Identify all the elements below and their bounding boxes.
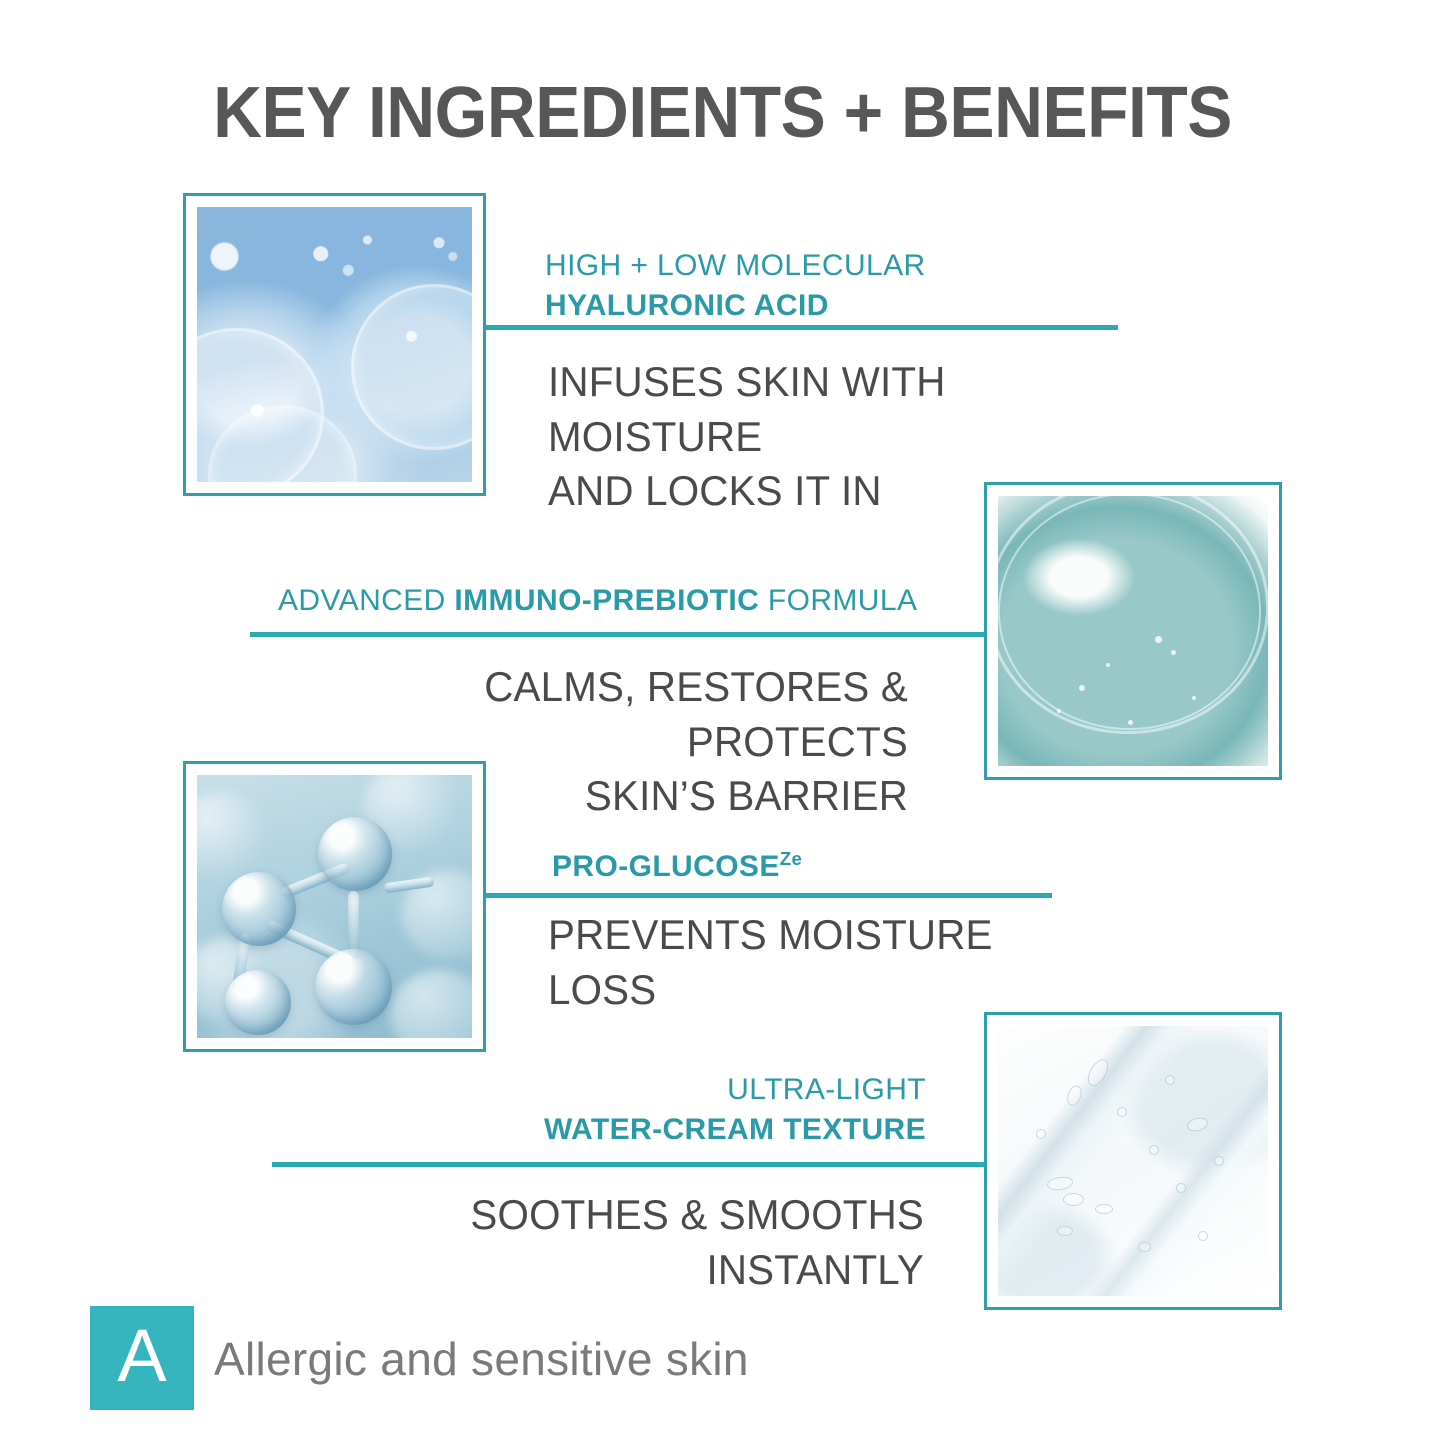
- water-bubbles-image: [197, 207, 472, 482]
- ingredient-label-1-line1: HIGH + LOW MOLECULAR: [545, 249, 926, 282]
- ingredient-label-2-post: FORMULA: [759, 584, 917, 617]
- allergy-badge-letter: A: [117, 1319, 166, 1393]
- ingredient-label-2-pre: ADVANCED: [278, 584, 454, 617]
- ingredient-benefit-4: SOOTHES & SMOOTHS INSTANTLY: [329, 1188, 924, 1297]
- ingredient-benefit-2-line2: SKIN’S BARRIER: [585, 772, 908, 819]
- ingredient-benefit-1-line2: AND LOCKS IT IN: [548, 467, 882, 514]
- ingredient-label-2: ADVANCED IMMUNO-PREBIOTIC FORMULA: [278, 581, 908, 621]
- connector-rule-3: [486, 893, 1052, 898]
- molecule-model-image: [197, 775, 472, 1038]
- ingredient-label-2-bold: IMMUNO-PREBIOTIC: [454, 584, 759, 617]
- ingredient-label-1: HIGH + LOW MOLECULAR HYALURONIC ACID: [545, 246, 926, 326]
- clear-gel-texture-photo: [984, 1012, 1282, 1310]
- ingredient-label-4-line2: WATER-CREAM TEXTURE: [544, 1113, 926, 1146]
- ingredient-label-3: PRO-GLUCOSEZe: [552, 847, 802, 887]
- connector-rule-4: [272, 1162, 984, 1167]
- ingredient-label-3-bold: PRO-GLUCOSE: [552, 850, 780, 883]
- ingredient-benefit-3-line1: PREVENTS MOISTURE LOSS: [548, 911, 993, 1013]
- infographic-page: KEY INGREDIENTS + BENEFITS HIGH + LOW MO…: [0, 0, 1445, 1445]
- ingredient-label-4: ULTRA-LIGHT WATER-CREAM TEXTURE: [300, 1070, 926, 1150]
- water-bubbles-photo: [183, 193, 486, 496]
- connector-rule-2: [250, 632, 984, 637]
- ingredient-benefit-1-line1: INFUSES SKIN WITH MOISTURE: [548, 358, 946, 460]
- page-title: KEY INGREDIENTS + BENEFITS: [43, 72, 1401, 154]
- allergy-badge-icon: A: [90, 1306, 194, 1410]
- ingredient-benefit-4-line1: SOOTHES & SMOOTHS INSTANTLY: [470, 1191, 924, 1293]
- allergy-badge-text: Allergic and sensitive skin: [214, 1332, 749, 1386]
- ingredient-label-3-superscript: Ze: [780, 848, 803, 869]
- ingredient-label-1-line2: HYALURONIC ACID: [545, 289, 829, 322]
- teal-gel-drop-image: [998, 496, 1268, 766]
- molecule-model-photo: [183, 761, 486, 1052]
- clear-gel-texture-image: [998, 1026, 1268, 1296]
- teal-gel-drop-photo: [984, 482, 1282, 780]
- ingredient-benefit-2-line1: CALMS, RESTORES & PROTECTS: [484, 663, 908, 765]
- ingredient-benefit-3: PREVENTS MOISTURE LOSS: [548, 908, 1086, 1017]
- ingredient-label-4-line1: ULTRA-LIGHT: [727, 1073, 926, 1106]
